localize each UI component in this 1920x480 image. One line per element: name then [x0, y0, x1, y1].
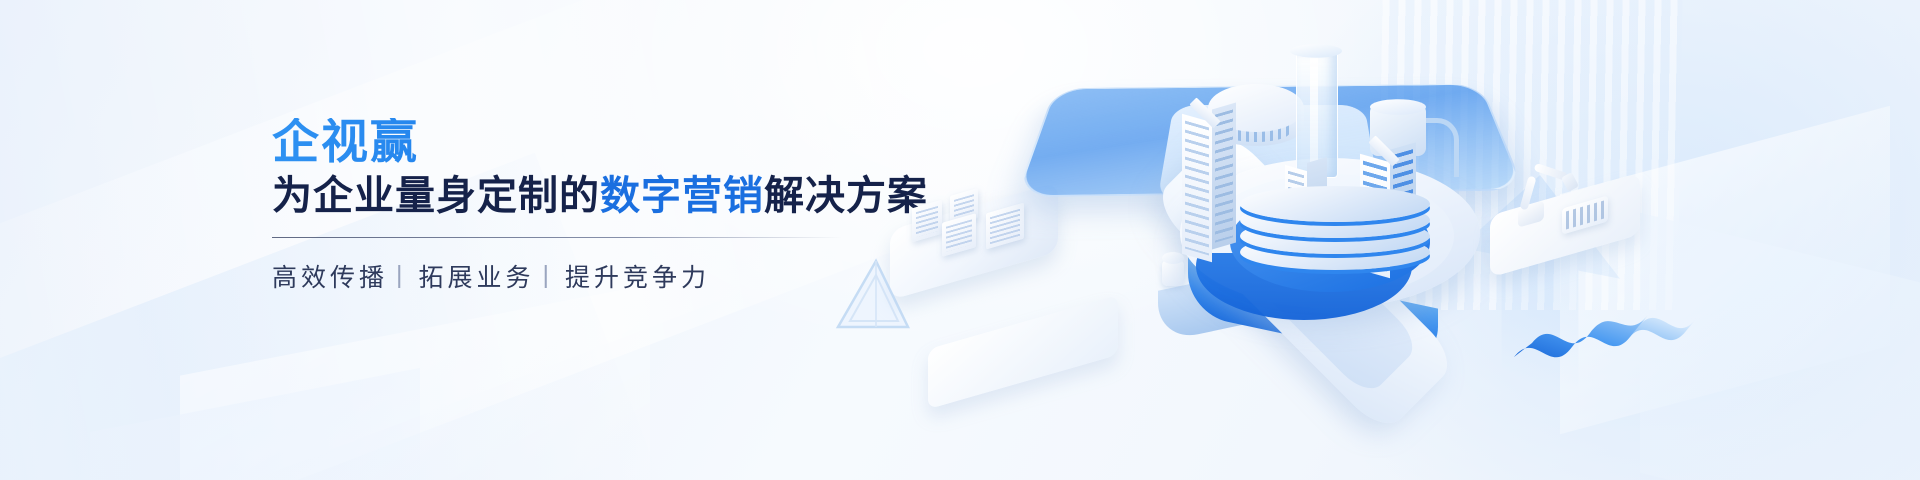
blue-wave-ribbon-icon: [1510, 295, 1700, 385]
glass-silo-icon: [1286, 38, 1350, 178]
stacked-disc-layers: [1240, 178, 1430, 288]
tagline-item-2: 拓展业务: [419, 258, 535, 294]
headline-divider: [272, 237, 842, 238]
tower-building-a-icon: [1182, 108, 1234, 258]
marketing-hero-banner: 企视赢 为企业量身定制的数字营销解决方案 高效传播 | 拓展业务 | 提升竞争力: [0, 0, 1920, 480]
page-title: 为企业量身定制的数字营销解决方案: [272, 174, 912, 219]
tagline-separator-1: |: [396, 261, 407, 290]
robot-arm-tile-icon: [1490, 160, 1680, 270]
bottom-white-tray: [928, 322, 1158, 408]
tagline: 高效传播 | 拓展业务 | 提升竞争力: [272, 258, 912, 294]
background-left-panel-1: [180, 284, 650, 480]
background-left-panel-2: [90, 368, 420, 480]
wireframe-triangle-icon: [830, 255, 920, 345]
hero-illustration: [830, 0, 1920, 480]
hero-text-block: 企视赢 为企业量身定制的数字营销解决方案 高效传播 | 拓展业务 | 提升竞争力: [272, 118, 912, 294]
brand-title: 企视赢: [272, 118, 912, 165]
tagline-item-1: 高效传播: [272, 258, 388, 294]
headline-highlight: 数字营销: [600, 174, 764, 218]
headline-prefix: 为企业量身定制的: [272, 174, 600, 218]
tagline-separator-2: |: [543, 261, 554, 290]
tagline-item-3: 提升竞争力: [565, 258, 710, 294]
